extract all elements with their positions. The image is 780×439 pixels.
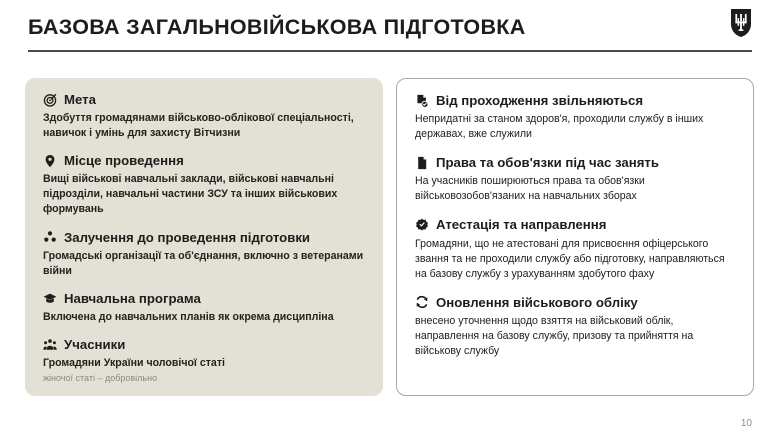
- section-header: Місце проведення: [43, 153, 365, 168]
- section-attestation: Атестація та направлення Громадяни, що н…: [415, 217, 735, 281]
- target-icon: [43, 93, 57, 107]
- section-body: Вищі військові навчальні заклади, військ…: [43, 172, 365, 217]
- document-check-icon: [415, 94, 429, 108]
- section-body: внесено уточнення щодо взяття на військо…: [415, 314, 735, 359]
- location-pin-icon: [43, 154, 57, 168]
- section-header: Від проходження звільняються: [415, 93, 735, 108]
- section-header: Мета: [43, 92, 365, 107]
- section-title: Місце проведення: [64, 153, 184, 168]
- section-location: Місце проведення Вищі військові навчальн…: [43, 153, 365, 217]
- page-title: БАЗОВА ЗАГАЛЬНОВІЙСЬКОВА ПІДГОТОВКА: [28, 15, 526, 40]
- right-panel: Від проходження звільняються Непридатні …: [396, 78, 754, 396]
- section-exemptions: Від проходження звільняються Непридатні …: [415, 93, 735, 142]
- section-body: Здобуття громадянами військово-облікової…: [43, 111, 365, 141]
- section-header: Оновлення військового обліку: [415, 295, 735, 310]
- section-body: Громадяни, що не атестовані для присвоєн…: [415, 237, 735, 282]
- section-header: Учасники: [43, 337, 365, 352]
- header-divider: [28, 50, 752, 52]
- section-body: Включена до навчальних планів як окрема …: [43, 310, 365, 325]
- section-title: Мета: [64, 92, 96, 107]
- section-rights-duties: Права та обов'язки під час занять На уча…: [415, 155, 735, 204]
- document-icon: [415, 156, 429, 170]
- section-header: Права та обов'язки під час занять: [415, 155, 735, 170]
- section-title: Навчальна програма: [64, 291, 201, 306]
- section-subnote: жіночої статі – добровільно: [43, 372, 365, 384]
- section-title: Учасники: [64, 337, 125, 352]
- section-curriculum: Навчальна програма Включена до навчальни…: [43, 291, 365, 325]
- section-title: Від проходження звільняються: [436, 93, 643, 108]
- ukraine-trident-shield-icon: [730, 8, 752, 38]
- page-number: 10: [741, 418, 752, 429]
- people-group-icon: [43, 230, 57, 244]
- participants-icon: [43, 338, 57, 352]
- section-participants: Учасники Громадяни України чоловічої ста…: [43, 337, 365, 384]
- page-header: БАЗОВА ЗАГАЛЬНОВІЙСЬКОВА ПІДГОТОВКА: [0, 0, 780, 52]
- refresh-icon: [415, 295, 429, 309]
- section-header: Залучення до проведення підготовки: [43, 230, 365, 245]
- section-body: Громадські організації та об'єднання, вк…: [43, 249, 365, 279]
- badge-check-icon: [415, 218, 429, 232]
- section-involvement: Залучення до проведення підготовки Грома…: [43, 230, 365, 279]
- section-title: Оновлення військового обліку: [436, 295, 638, 310]
- section-title: Атестація та направлення: [436, 217, 606, 232]
- section-title: Залучення до проведення підготовки: [64, 230, 310, 245]
- section-body: Непридатні за станом здоров'я, проходили…: [415, 112, 735, 142]
- section-header: Навчальна програма: [43, 291, 365, 306]
- section-title: Права та обов'язки під час занять: [436, 155, 659, 170]
- section-body: Громадяни України чоловічої статі: [43, 356, 365, 371]
- left-panel: Мета Здобуття громадянами військово-облі…: [25, 78, 383, 396]
- graduation-cap-icon: [43, 291, 57, 305]
- section-header: Атестація та направлення: [415, 217, 735, 232]
- section-body: На учасників поширюються права та обов'я…: [415, 174, 735, 204]
- section-registry-update: Оновлення військового обліку внесено уто…: [415, 295, 735, 359]
- section-meta: Мета Здобуття громадянами військово-облі…: [43, 92, 365, 141]
